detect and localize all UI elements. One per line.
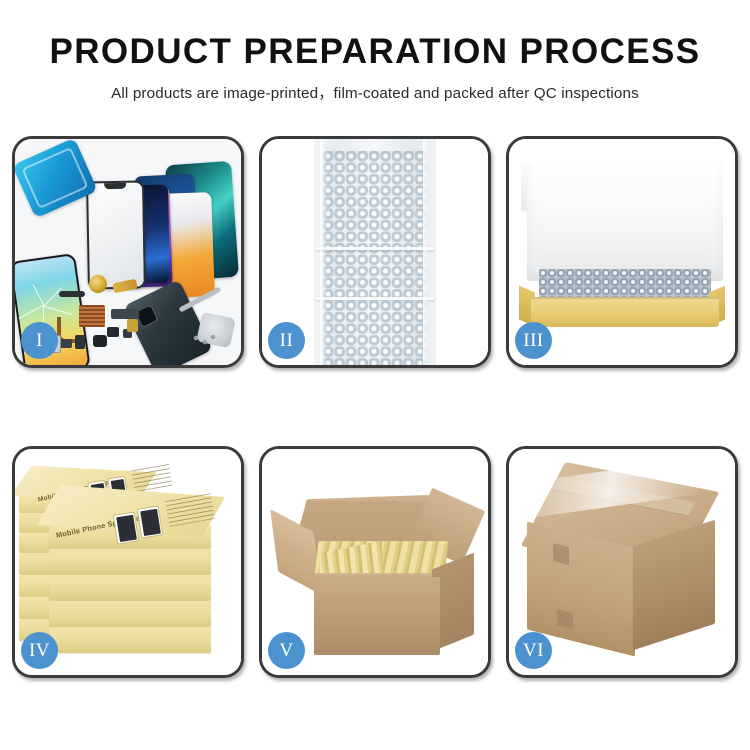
header: PRODUCT PREPARATION PROCESS All products… [0, 0, 750, 103]
step-panel-stacked-boxes[interactable]: Mobile Phone Spare Parts Mobile Phone Sp… [12, 446, 244, 678]
earpiece-part [59, 291, 85, 297]
wrap-seam [316, 297, 434, 300]
chip-part [93, 335, 107, 347]
step-panel-sealed-carton[interactable]: VI [506, 446, 738, 678]
speaker-part [89, 275, 107, 293]
step-panel-bubble-wrap[interactable]: II [259, 136, 491, 368]
step-panel-carton-packing[interactable]: V [259, 446, 491, 678]
box-phone-graphic [113, 511, 139, 544]
adhesive-frame-blue [15, 139, 98, 218]
step-badge-2: II [268, 322, 305, 359]
chip-part [107, 327, 119, 337]
step-badge-3: III [515, 322, 552, 359]
crack-line [32, 284, 44, 306]
bubble-wrapped-contents [539, 269, 711, 299]
box-front-panel [531, 297, 719, 327]
chip-part [75, 335, 85, 349]
screws-part [193, 335, 217, 347]
box-phone-graphic [137, 505, 163, 538]
page-title: PRODUCT PREPARATION PROCESS [0, 34, 750, 71]
box-spec-lines [131, 464, 172, 492]
crack-line [43, 306, 72, 315]
wrap-seam [316, 247, 434, 250]
step-badge-4: IV [21, 632, 58, 669]
connector-part [127, 319, 138, 332]
wrap-edge-left [320, 139, 327, 365]
step-panel-inner-box[interactable]: III [506, 136, 738, 368]
stacked-box [49, 601, 211, 627]
stacked-box [49, 549, 211, 575]
step-badge-5: V [268, 632, 305, 669]
stacked-box [49, 575, 211, 601]
process-steps-grid: I II [12, 136, 738, 678]
step-panel-components[interactable]: I [12, 136, 244, 368]
carton-front-wall [314, 577, 440, 655]
stacked-box [49, 627, 211, 653]
carton-handle-tab [553, 543, 569, 565]
page-subtitle: All products are image-printed，film-coat… [0, 81, 750, 103]
step-badge-1: I [21, 322, 58, 359]
crack-line [18, 305, 43, 319]
wrap-edge-right [423, 139, 430, 365]
step-badge-6: VI [515, 632, 552, 669]
foam-liner [539, 189, 711, 273]
crack-line [44, 287, 63, 306]
bubble-grid [323, 151, 427, 365]
flex-cable-dark [111, 309, 139, 319]
phone-glass-panel [86, 181, 146, 290]
copper-mesh-part [79, 305, 105, 327]
